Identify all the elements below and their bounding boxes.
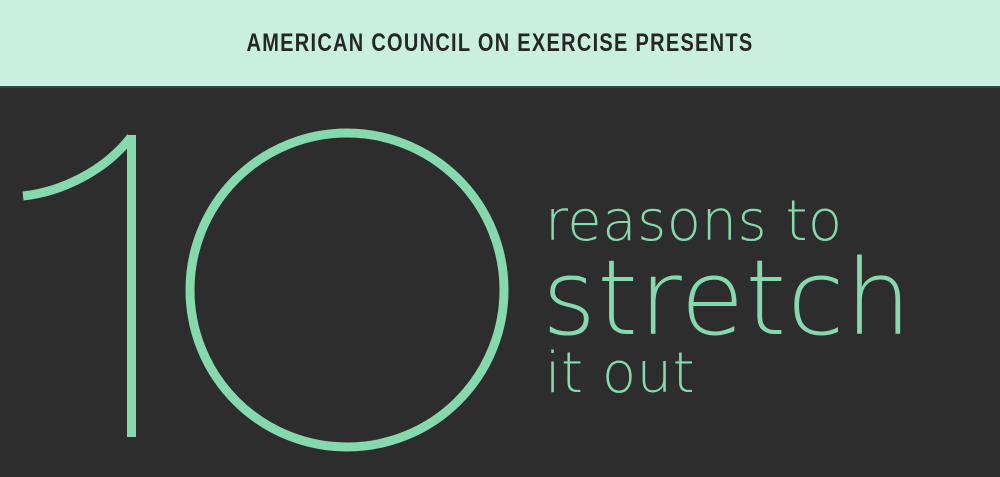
presenter-text: AMERICAN COUNCIL ON EXERCISE PRESENTS <box>100 29 900 57</box>
infographic-poster: AMERICAN COUNCIL ON EXERCISE PRESENTS re… <box>0 0 1000 477</box>
numeral-digit-zero <box>190 133 504 447</box>
headline-line-stretch: stretch <box>542 250 1000 346</box>
numeral-digit-one <box>23 135 132 437</box>
headline-block: reasons to stretch it out <box>545 196 1000 400</box>
presenter-band: AMERICAN COUNCIL ON EXERCISE PRESENTS <box>0 0 1000 86</box>
hero-numeral-10 <box>0 88 540 477</box>
